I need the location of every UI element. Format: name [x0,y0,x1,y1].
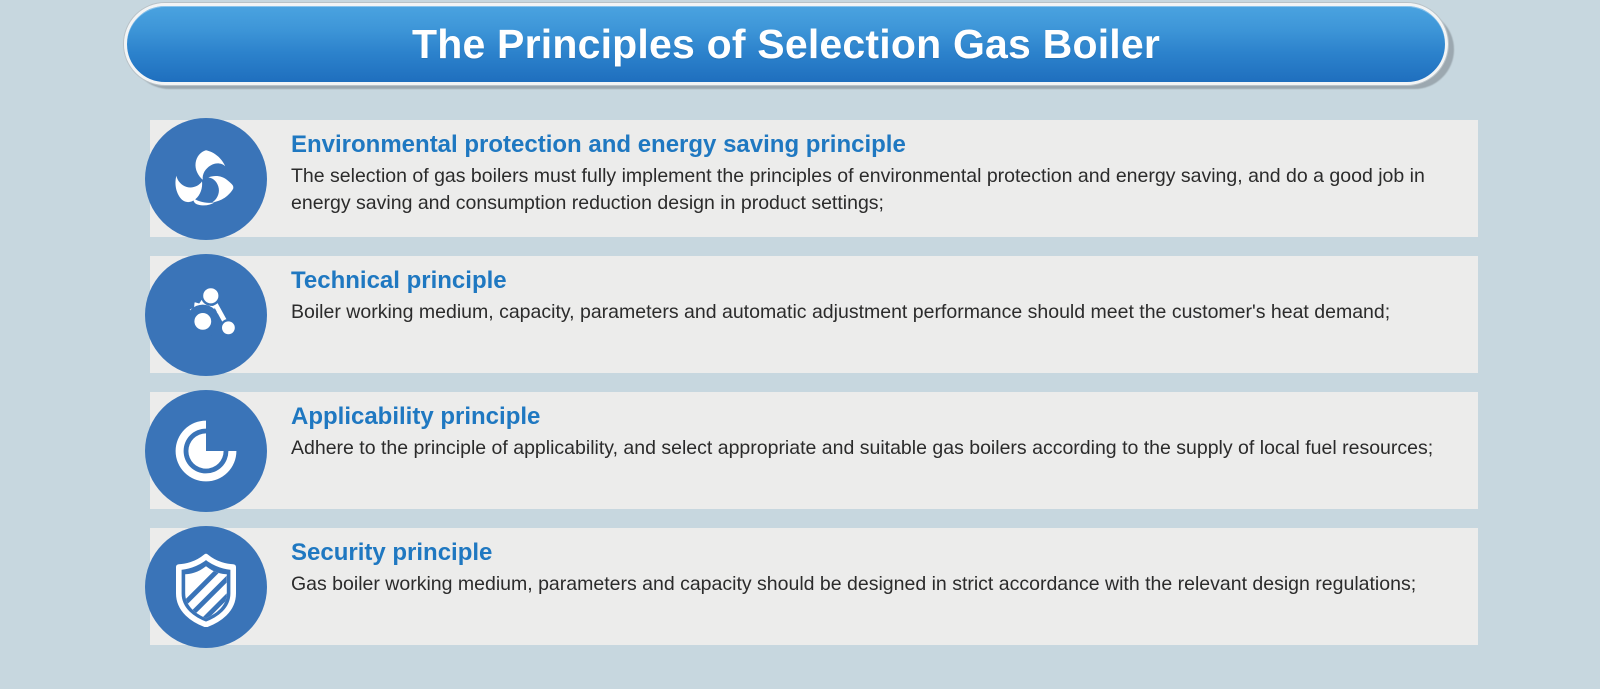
item-text: Environmental protection and energy savi… [291,130,1451,217]
item-text: Applicability principle Adhere to the pr… [291,402,1451,462]
item-title: Security principle [291,538,1451,568]
title-banner: The Principles of Selection Gas Boiler [124,3,1454,89]
list-item: Environmental protection and energy savi… [0,120,1600,237]
banner-pill: The Principles of Selection Gas Boiler [124,3,1448,85]
pie-chart-icon [145,390,267,512]
item-title: Applicability principle [291,402,1451,432]
item-body: The selection of gas boilers must fully … [291,163,1441,217]
list-item: Security principle Gas boiler working me… [0,528,1600,645]
item-title: Technical principle [291,266,1451,296]
item-body: Boiler working medium, capacity, paramet… [291,299,1441,326]
item-text: Security principle Gas boiler working me… [291,538,1451,598]
gear-network-icon [145,254,267,376]
list-item: Applicability principle Adhere to the pr… [0,392,1600,509]
shield-icon [145,526,267,648]
item-text: Technical principle Boiler working mediu… [291,266,1451,326]
item-body: Adhere to the principle of applicability… [291,435,1441,462]
principles-list: Environmental protection and energy savi… [0,120,1600,645]
recycle-leaves-icon [145,118,267,240]
list-item: Technical principle Boiler working mediu… [0,256,1600,373]
item-title: Environmental protection and energy savi… [291,130,1451,160]
page-title: The Principles of Selection Gas Boiler [412,24,1160,65]
item-body: Gas boiler working medium, parameters an… [291,571,1441,598]
